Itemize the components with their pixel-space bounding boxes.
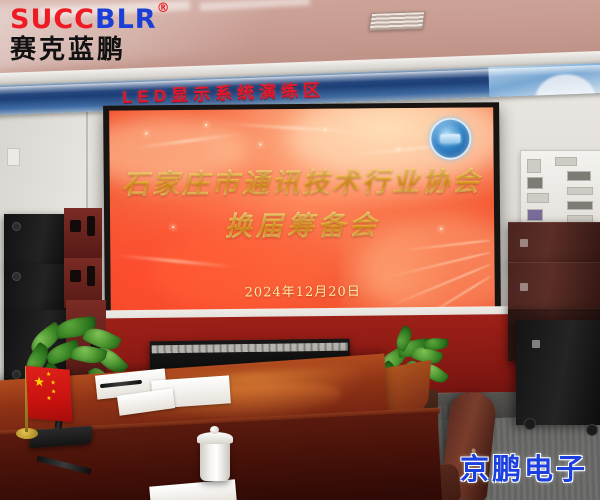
- info-board-cell: [567, 201, 593, 210]
- line-array-speaker-left-top[interactable]: [4, 214, 66, 266]
- speaker-port: [70, 270, 81, 282]
- flag-star-small: ★: [46, 396, 52, 403]
- info-board-cell: [527, 209, 543, 221]
- flag-star-small: ★: [50, 380, 56, 387]
- led-title-line-1: 石家庄市通讯技术行业协会: [110, 159, 494, 201]
- speaker-badge: [520, 283, 528, 291]
- registered-trademark-icon: ®: [157, 2, 171, 15]
- cabinet-caster: [524, 418, 536, 430]
- led-sparkle: [145, 132, 147, 134]
- led-screen-surface: 石家庄市通讯技术行业协会 换届筹备会 2024年12月20日: [109, 107, 495, 310]
- speaker-badge: [520, 239, 528, 247]
- led-title-block: 石家庄市通讯技术行业协会 换届筹备会: [110, 159, 495, 244]
- logo-latin-row: SUCCBLR®: [10, 6, 157, 33]
- succblr-logo: SUCCBLR® 赛克蓝鹏: [10, 6, 157, 63]
- info-board-cell: [555, 157, 577, 166]
- lidded-tea-cup[interactable]: [200, 441, 230, 481]
- china-desk-flag: ★ ★ ★ ★ ★: [26, 366, 73, 422]
- info-board-cell: [527, 177, 543, 189]
- info-board-cell: [567, 171, 591, 181]
- speaker-handle-knob: [12, 370, 21, 379]
- light-switch-plate[interactable]: [7, 148, 20, 166]
- logo-succ-text: SUCC: [10, 4, 95, 35]
- info-board-cell: [527, 159, 541, 173]
- tea-cup-lid-knob: [210, 426, 219, 434]
- speaker-port: [87, 216, 95, 236]
- line-array-speaker-left-mid[interactable]: [4, 264, 66, 312]
- led-sparkle: [205, 124, 207, 126]
- association-emblem: [429, 118, 471, 160]
- info-board-cell: [567, 187, 593, 195]
- led-title-line-2: 换届筹备会: [110, 202, 494, 244]
- black-cabinet[interactable]: [516, 320, 600, 425]
- association-emblem-inner: [440, 134, 460, 143]
- rack-ventilation-strip: [152, 343, 348, 354]
- led-event-date: 2024年12月20日: [111, 279, 495, 301]
- flag-star-small: ★: [51, 389, 57, 396]
- led-sparkle: [324, 129, 326, 131]
- logo-blr-text: BLR: [95, 4, 157, 35]
- speaker-handle-knob: [12, 222, 21, 231]
- led-video-wall[interactable]: 石家庄市通讯技术行业协会 换届筹备会 2024年12月20日: [103, 102, 501, 317]
- jingpeng-electronics-watermark: 京鹏电子: [460, 446, 588, 488]
- cabinet-badge: [532, 340, 540, 348]
- line-array-speaker-right-mid[interactable]: [508, 262, 600, 311]
- led-sparkle: [397, 148, 399, 150]
- line-array-speaker-right-top[interactable]: [508, 222, 600, 265]
- air-vent-grille: [369, 11, 426, 31]
- info-board-cell: [527, 193, 549, 203]
- speaker-port: [70, 220, 81, 232]
- led-sparkle: [259, 143, 261, 145]
- speaker-handle-knob: [12, 272, 21, 281]
- speaker-port: [87, 266, 95, 286]
- cabinet-caster: [586, 424, 598, 436]
- led-display-room-photo: LED显示系统演练区: [0, 0, 600, 500]
- flag-star-large: ★: [33, 375, 45, 389]
- speaker-side-panel-left-top: [64, 208, 102, 260]
- flag-star-small: ★: [46, 372, 52, 379]
- logo-chinese-name: 赛克蓝鹏: [10, 37, 157, 63]
